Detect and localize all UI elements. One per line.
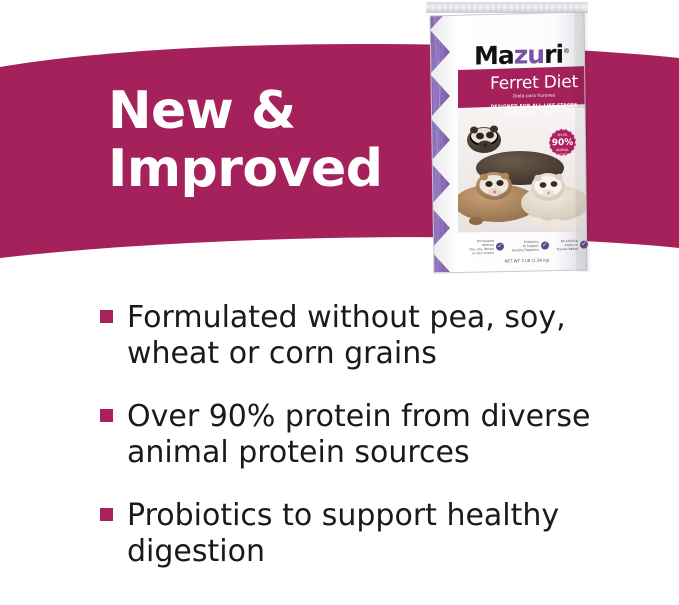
bullet-square-icon [100,508,113,521]
product-bag-image: Mazuri® Ferret Diet Dieta para hurones D… [424,0,590,275]
bullet-text: Over 90% protein from diverse animal pro… [127,399,647,471]
banner-title: New & Improved [108,82,383,198]
product-bag-artwork [424,0,590,275]
bullet-square-icon [100,409,113,422]
list-item: Probiotics to support healthy digestion [0,498,679,570]
list-item: Formulated without pea, soy, wheat or co… [0,300,679,372]
list-item: Over 90% protein from diverse animal pro… [0,399,679,471]
feature-bullet-list: Formulated without pea, soy, wheat or co… [0,300,679,597]
banner-title-line-1: New & [108,82,383,140]
banner-title-line-2: Improved [108,140,383,198]
product-feature-panel: New & Improved [0,0,679,605]
bullet-square-icon [100,310,113,323]
bullet-text: Probiotics to support healthy digestion [127,498,647,570]
bullet-text: Formulated without pea, soy, wheat or co… [127,300,647,372]
